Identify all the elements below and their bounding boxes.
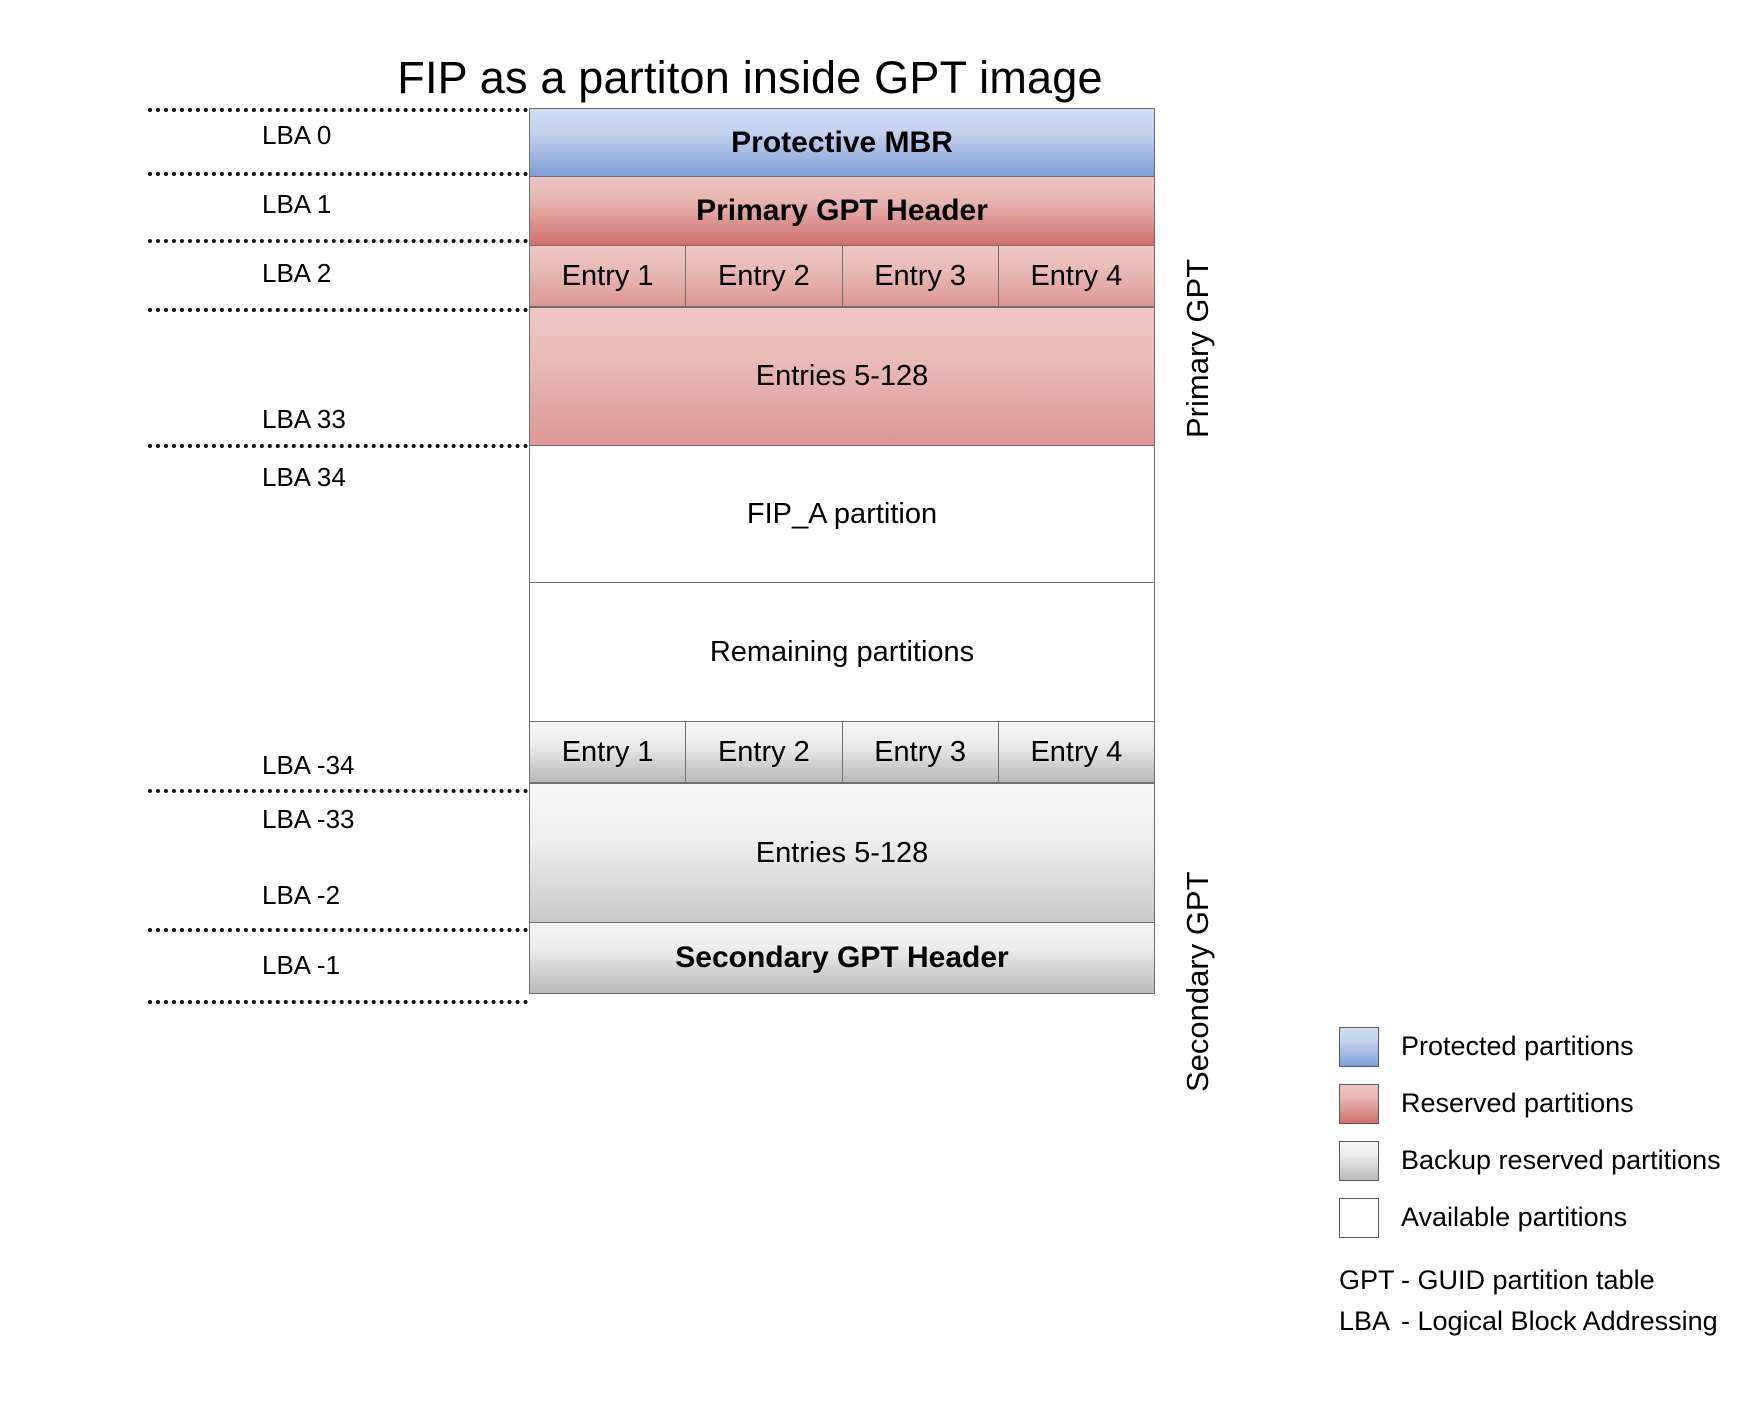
entry-cell: Entry 1: [529, 245, 686, 307]
legend-protected-label: Protected partitions: [1401, 1031, 1634, 1062]
legend-backup-reserved-swatch-icon: [1339, 1141, 1379, 1181]
lba-label-lba-0: LBA 0: [262, 120, 331, 151]
lba-label-lba--1: LBA -1: [262, 950, 340, 981]
guide-line: [148, 108, 528, 112]
legend-available-swatch-icon: [1339, 1198, 1379, 1238]
guide-line: [148, 928, 528, 932]
legend-available-label: Available partitions: [1401, 1202, 1627, 1233]
entry-cells: Entry 1Entry 2Entry 3Entry 4: [529, 721, 1155, 783]
legend: Protected partitionsReserved partitionsB…: [1339, 1018, 1739, 1246]
primary-gpt-side-label: Primary GPT: [1180, 259, 1216, 438]
primary-gpt-header-label: Primary GPT Header: [696, 194, 988, 228]
legend-reserved-label: Reserved partitions: [1401, 1088, 1634, 1119]
lba-label-lba--2: LBA -2: [262, 880, 340, 911]
secondary-gpt-side-label: Secondary GPT: [1180, 871, 1216, 1092]
primary-entries-row: Entry 1Entry 2Entry 3Entry 4: [529, 245, 1155, 307]
lba-label-lba--33: LBA -33: [262, 804, 355, 835]
primary-gpt-header: Primary GPT Header: [529, 176, 1155, 246]
remaining-partitions: Remaining partitions: [529, 582, 1155, 722]
guide-line: [148, 789, 528, 793]
legend-protected: Protected partitions: [1339, 1018, 1739, 1075]
guide-line: [148, 1000, 528, 1004]
secondary-gpt-header: Secondary GPT Header: [529, 922, 1155, 994]
entry-cell: Entry 2: [685, 245, 842, 307]
lba-label-lba-34: LBA 34: [262, 462, 346, 493]
entry-cells: Entry 1Entry 2Entry 3Entry 4: [529, 245, 1155, 307]
guide-line: [148, 308, 528, 312]
lba-label-lba-33: LBA 33: [262, 404, 346, 435]
lba-label-lba-1: LBA 1: [262, 189, 331, 220]
legend-available: Available partitions: [1339, 1189, 1739, 1246]
entry-cell: Entry 1: [529, 721, 686, 783]
secondary-entries-row: Entry 1Entry 2Entry 3Entry 4: [529, 721, 1155, 783]
entry-cell: Entry 4: [998, 245, 1155, 307]
secondary-gpt-header-label: Secondary GPT Header: [675, 941, 1008, 975]
entry-cell: Entry 4: [998, 721, 1155, 783]
lba-label-lba-2: LBA 2: [262, 258, 331, 289]
legend-reserved-swatch-icon: [1339, 1084, 1379, 1124]
entry-cell: Entry 3: [842, 245, 999, 307]
abbrev-lba-value: - Logical Block Addressing: [1401, 1306, 1718, 1337]
legend-protected-swatch-icon: [1339, 1027, 1379, 1067]
abbreviation-list: GPT- GUID partition tableLBA- Logical Bl…: [1339, 1265, 1718, 1347]
entry-cell: Entry 3: [842, 721, 999, 783]
abbrev-lba-key: LBA: [1339, 1306, 1401, 1337]
secondary-entries-5-128-label: Entries 5-128: [756, 837, 929, 870]
protective-mbr: Protective MBR: [529, 108, 1155, 177]
guide-line: [148, 444, 528, 448]
primary-entries-5-128: Entries 5-128: [529, 307, 1155, 446]
gpt-layout-stack: Protective MBRPrimary GPT HeaderEntry 1E…: [529, 108, 1155, 994]
fip-a-partition: FIP_A partition: [529, 445, 1155, 583]
legend-backup-reserved-label: Backup reserved partitions: [1401, 1145, 1721, 1176]
abbrev-gpt-value: - GUID partition table: [1401, 1265, 1655, 1296]
fip-a-partition-label: FIP_A partition: [747, 498, 937, 531]
remaining-partitions-label: Remaining partitions: [710, 636, 974, 669]
primary-entries-5-128-label: Entries 5-128: [756, 360, 929, 393]
guide-line: [148, 172, 528, 176]
abbrev-gpt-key: GPT: [1339, 1265, 1401, 1296]
secondary-entries-5-128: Entries 5-128: [529, 783, 1155, 923]
legend-backup-reserved: Backup reserved partitions: [1339, 1132, 1739, 1189]
page-title: FIP as a partiton inside GPT image: [0, 52, 1500, 104]
entry-cell: Entry 2: [685, 721, 842, 783]
legend-reserved: Reserved partitions: [1339, 1075, 1739, 1132]
guide-line: [148, 239, 528, 243]
protective-mbr-label: Protective MBR: [731, 126, 953, 160]
abbrev-lba: LBA- Logical Block Addressing: [1339, 1306, 1718, 1347]
lba-label-lba--34: LBA -34: [262, 750, 355, 781]
abbrev-gpt: GPT- GUID partition table: [1339, 1265, 1718, 1306]
